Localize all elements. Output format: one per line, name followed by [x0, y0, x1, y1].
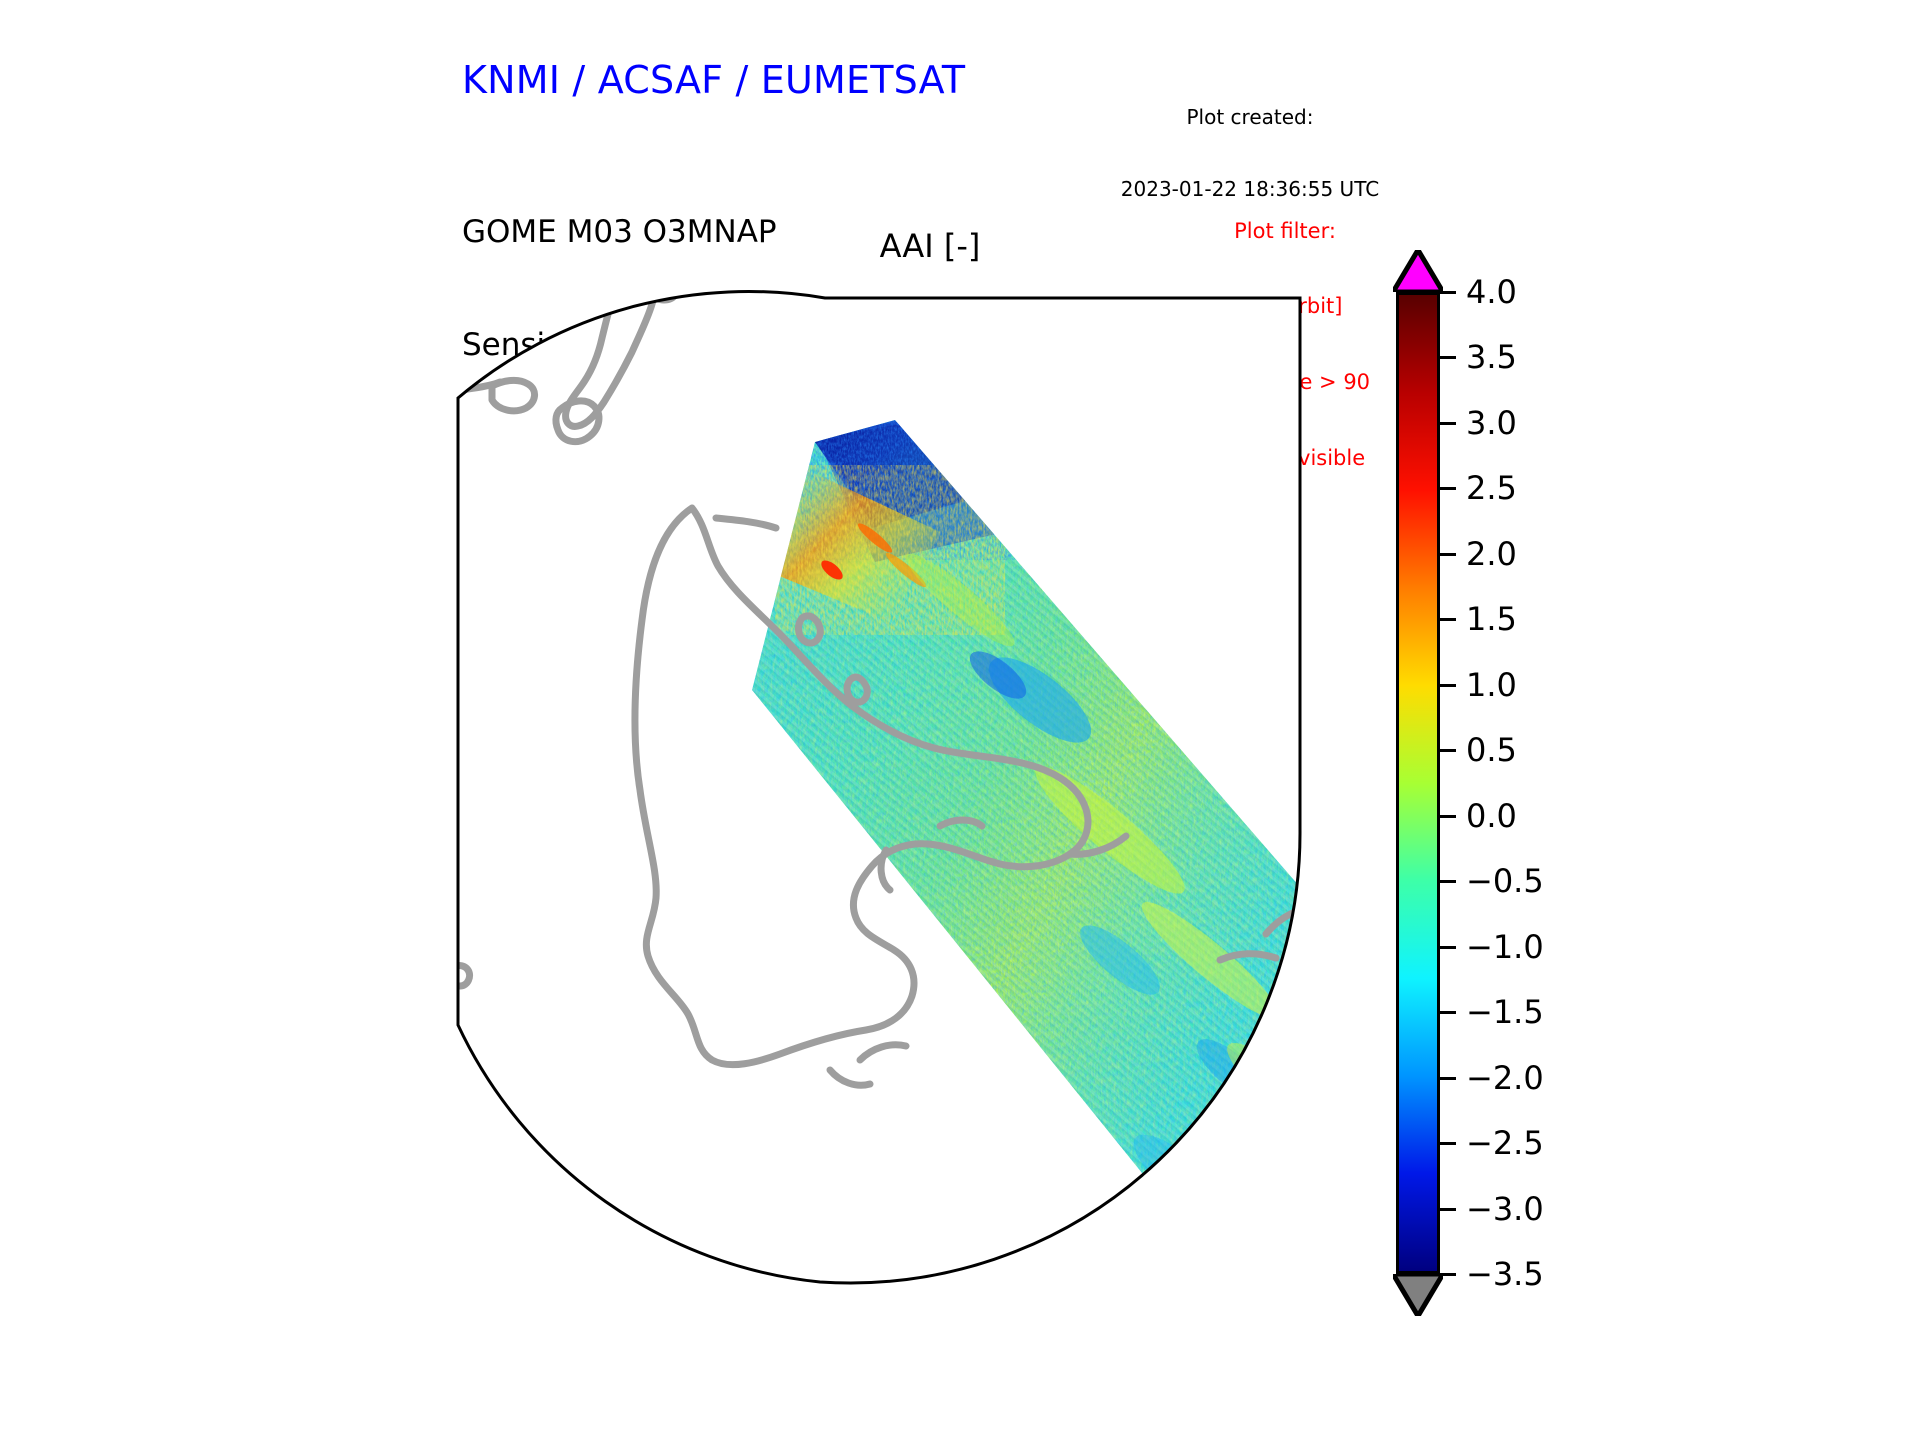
colorbar-tick-mark: [1440, 946, 1456, 949]
colorbar-gradient: [1396, 292, 1440, 1274]
colorbar-tick-label: −2.5: [1466, 1124, 1544, 1162]
filter-label: Plot filter:: [1155, 218, 1415, 244]
colorbar-tick-label: 4.0: [1466, 273, 1517, 311]
colorbar-tick-mark: [1440, 356, 1456, 359]
colorbar-tick-label: −1.0: [1466, 928, 1544, 966]
colorbar-tick-label: 2.5: [1466, 469, 1517, 507]
colorbar-tick-label: 0.5: [1466, 731, 1517, 769]
colorbar-over-arrow-outline: [1393, 250, 1443, 292]
colorbar-tick-label: −3.0: [1466, 1190, 1544, 1228]
variable-title: AAI [-]: [780, 228, 1080, 266]
colorbar-tick-mark: [1440, 1208, 1456, 1211]
colorbar-tick-mark: [1440, 291, 1456, 294]
colorbar-tick-label: 2.0: [1466, 535, 1517, 573]
colorbar-tick-mark: [1440, 422, 1456, 425]
plot-created-label: Plot created:: [1100, 105, 1400, 129]
colorbar-tick-mark: [1440, 880, 1456, 883]
colorbar: [1396, 292, 1440, 1274]
colorbar-tick-mark: [1440, 618, 1456, 621]
colorbar-tick-mark: [1440, 1077, 1456, 1080]
colorbar-tick-label: −0.5: [1466, 862, 1544, 900]
colorbar-tick-label: 0.0: [1466, 797, 1517, 835]
colorbar-tick-label: −2.0: [1466, 1059, 1544, 1097]
colorbar-tick-label: 1.5: [1466, 600, 1517, 638]
colorbar-tick-mark: [1440, 749, 1456, 752]
colorbar-tick-mark: [1440, 553, 1456, 556]
colorbar-tick-label: 1.0: [1466, 666, 1517, 704]
colorbar-under-arrow-outline: [1393, 1274, 1443, 1316]
colorbar-tick-mark: [1440, 1142, 1456, 1145]
colorbar-tick-mark: [1440, 1011, 1456, 1014]
colorbar-tick-label: −3.5: [1466, 1255, 1544, 1293]
colorbar-tick-label: 3.5: [1466, 338, 1517, 376]
colorbar-tick-mark: [1440, 684, 1456, 687]
colorbar-tick-label: −1.5: [1466, 993, 1544, 1031]
colorbar-tick-mark: [1440, 815, 1456, 818]
colorbar-tick-mark: [1440, 487, 1456, 490]
map-svg: [420, 270, 1340, 1320]
colorbar-tick-label: 3.0: [1466, 404, 1517, 442]
colorbar-tick-mark: [1440, 1273, 1456, 1276]
plot-canvas: KNMI / ACSAF / EUMETSAT Plot created: 20…: [0, 0, 1920, 1440]
map-panel: [420, 270, 1340, 1320]
colorbar-ticks: 4.03.53.02.52.01.51.00.50.0−0.5−1.0−1.5−…: [1440, 292, 1680, 1274]
organisation-title: KNMI / ACSAF / EUMETSAT: [462, 58, 965, 103]
